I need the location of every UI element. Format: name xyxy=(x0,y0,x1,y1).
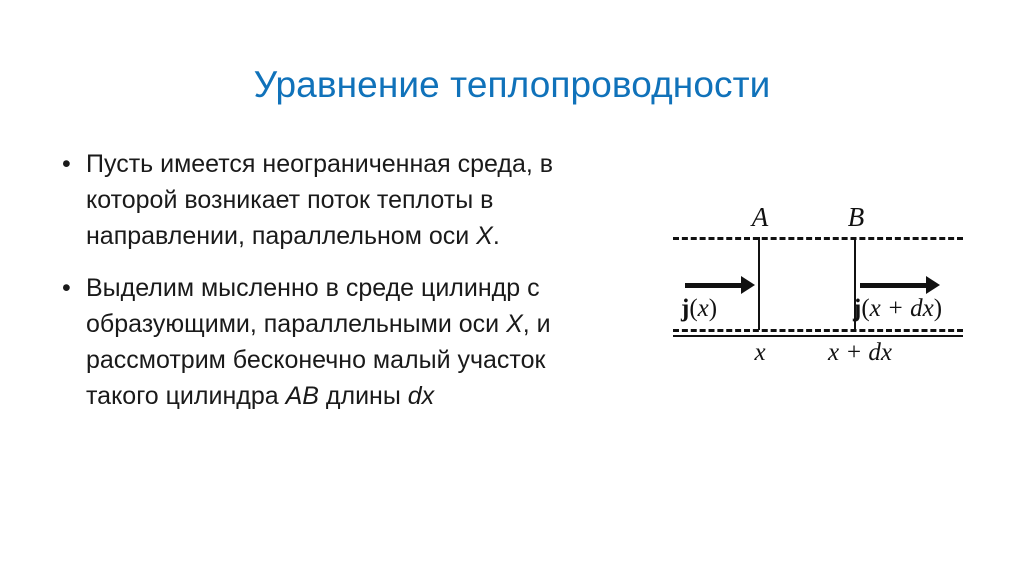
heat-flux-diagram: A B j(x) j(x + dx) x x + dx xyxy=(648,186,1008,376)
diagram-canvas: A B j(x) j(x + dx) x x + dx xyxy=(648,186,1008,376)
cylinder-top-wall xyxy=(673,237,963,240)
label-flux-left: j(x) xyxy=(681,294,717,324)
bullet-list: • Пусть имеется неограниченная среда, в … xyxy=(62,146,622,430)
bullet-1-segment-2: . xyxy=(493,222,500,250)
bullet-2-segment-0: Выделим мысленно в среде цилиндр с образ… xyxy=(86,274,540,338)
cylinder-bottom-wall xyxy=(673,329,963,332)
label-position-x: x xyxy=(754,338,765,368)
page-title: Уравнение теплопроводности xyxy=(0,62,1024,108)
list-item: • Выделим мысленно в среде цилиндр с обр… xyxy=(62,270,622,414)
flux-left-open-paren: ( xyxy=(689,295,697,322)
list-item: • Пусть имеется неограниченная среда, в … xyxy=(62,146,622,254)
flux-right-argument: x + dx xyxy=(870,295,934,322)
bullet-2-segment-3: AB xyxy=(286,382,319,410)
arrow-shaft xyxy=(860,283,928,288)
bullet-text-1: Пусть имеется неограниченная среда, в ко… xyxy=(86,146,622,254)
position-x-value: x xyxy=(754,339,765,366)
arrow-head xyxy=(741,276,755,294)
position-x-plus-dx-value: x + dx xyxy=(828,339,892,366)
flux-left-argument: x xyxy=(698,295,709,322)
label-position-x-plus-dx: x + dx xyxy=(828,338,892,368)
cross-section-a xyxy=(758,237,760,330)
label-flux-right: j(x + dx) xyxy=(853,294,942,324)
bullet-marker-icon: • xyxy=(62,270,86,306)
bullet-text-2: Выделим мысленно в среде цилиндр с образ… xyxy=(86,270,622,414)
bullet-1-segment-1: X xyxy=(476,222,493,250)
bullet-2-segment-1: X xyxy=(506,310,523,338)
flux-left-close-paren: ) xyxy=(709,295,717,322)
bullet-marker-icon: • xyxy=(62,146,86,182)
arrow-shaft xyxy=(685,283,743,288)
label-face-b: B xyxy=(848,202,865,232)
bullet-2-segment-5: dx xyxy=(408,382,434,410)
bullet-2-segment-4: длины xyxy=(319,382,408,410)
arrow-head xyxy=(926,276,940,294)
cylinder-baseline xyxy=(673,335,963,337)
flux-right-close-paren: ) xyxy=(934,295,942,322)
flux-right-open-paren: ( xyxy=(861,295,869,322)
label-face-a: A xyxy=(752,202,769,232)
slide-root: Уравнение теплопроводности • Пусть имеет… xyxy=(0,0,1024,574)
